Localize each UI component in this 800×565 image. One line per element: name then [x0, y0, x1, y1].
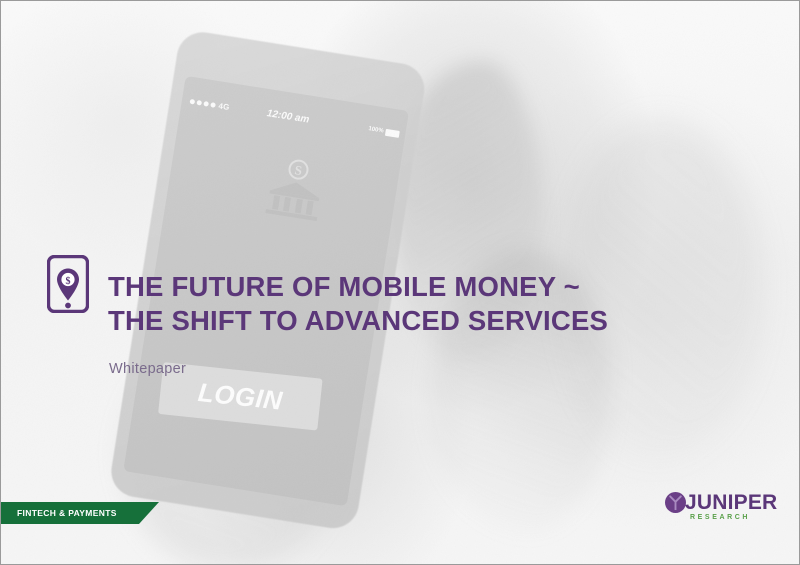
phone-login-label: LOGIN	[197, 376, 285, 416]
logo-subtext: RESEARCH	[690, 514, 750, 521]
bank-dollar-icon: S	[259, 152, 331, 228]
document-type-label: Whitepaper	[109, 361, 186, 377]
svg-text:S: S	[293, 162, 302, 178]
signal-dots-icon	[190, 98, 216, 107]
page-title-line-2: THE SHIFT TO ADVANCED SERVICES	[108, 304, 748, 338]
page-title-line-1: THE FUTURE OF MOBILE MONEY ~	[108, 271, 580, 302]
category-banner-label: FINTECH & PAYMENTS	[17, 508, 117, 518]
mobile-money-pin-icon: $	[47, 255, 89, 313]
logo-wordmark: JUNIPER	[685, 492, 777, 513]
juniper-research-logo: JUNIPER RESEARCH	[665, 490, 763, 526]
juniper-sprig-icon	[665, 492, 686, 513]
category-banner: FINTECH & PAYMENTS	[1, 502, 159, 524]
svg-text:$: $	[66, 276, 71, 287]
phone-battery-label: 100%	[368, 126, 384, 134]
phone-network-label: 4G	[218, 101, 230, 112]
battery-icon	[385, 128, 400, 137]
whitepaper-cover-page: 4G 12:00 am 100% S LOGIN	[0, 0, 800, 565]
phone-battery-indicator: 100%	[368, 126, 400, 138]
page-title: THE FUTURE OF MOBILE MONEY ~ THE SHIFT T…	[108, 270, 748, 338]
